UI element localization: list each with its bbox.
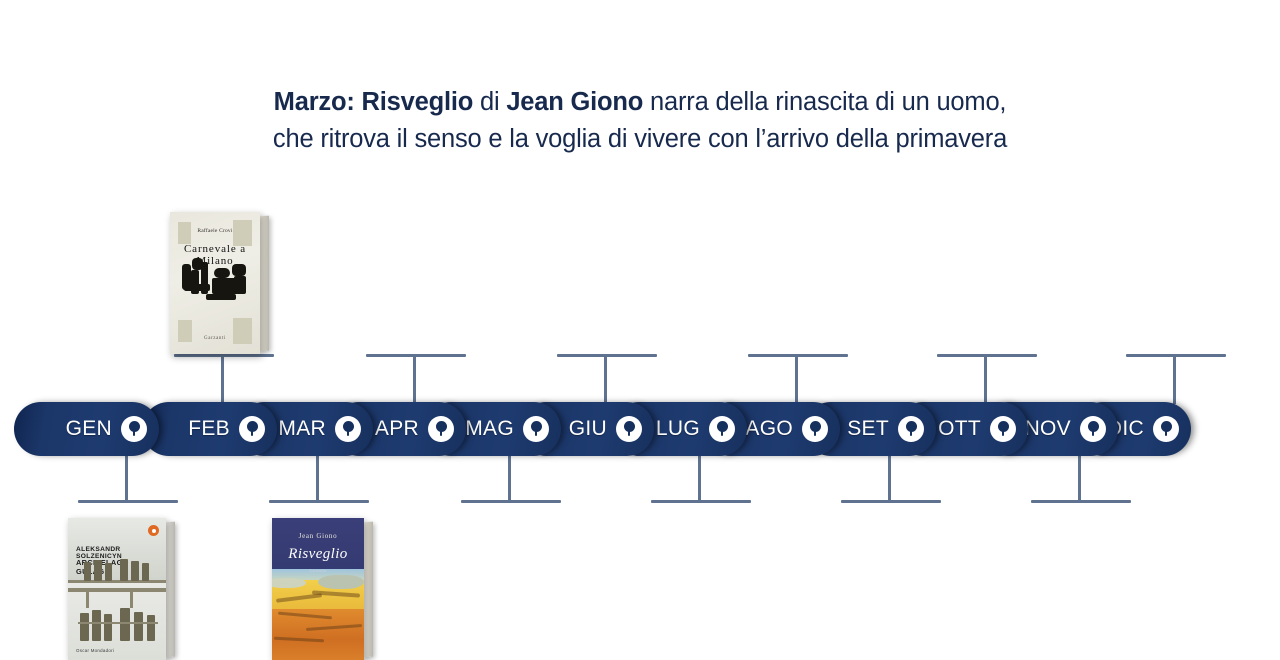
month-label: NOV — [1025, 417, 1071, 441]
location-pin-icon[interactable] — [616, 416, 642, 442]
connector-below-4 — [651, 455, 751, 503]
book-cover-carnevale[interactable]: Raffaele Crovi Carnevale a Milano Garzan… — [170, 212, 260, 354]
location-pin-icon[interactable] — [990, 416, 1016, 442]
cover-figure — [147, 615, 155, 641]
location-pin-icon[interactable] — [802, 416, 828, 442]
caption-line-1-tail: narra della rinascita di un uomo, — [643, 88, 1006, 116]
month-label: OTT — [938, 417, 981, 441]
connector-hbar — [1126, 354, 1226, 357]
connector-stem — [1078, 455, 1081, 501]
connector-hbar — [461, 500, 561, 503]
connector-above-5 — [937, 354, 1037, 404]
location-pin-icon[interactable] — [428, 416, 454, 442]
cover-figure — [94, 560, 102, 581]
month-label: GEN — [66, 417, 112, 441]
connector-above-3 — [557, 354, 657, 404]
cover-artwork — [234, 276, 246, 294]
connector-hbar — [174, 354, 274, 357]
connector-below-3 — [461, 455, 561, 503]
location-pin-icon[interactable] — [523, 416, 549, 442]
month-label: LUG — [656, 417, 700, 441]
connector-above-4 — [748, 354, 848, 404]
cover-hill — [272, 578, 306, 588]
caption-book-author: Jean Giono — [506, 88, 643, 116]
month-label: AGO — [745, 417, 793, 441]
connector-hbar — [366, 354, 466, 357]
book-author-text: Jean Giono — [272, 532, 364, 540]
book-publisher-text: Guanda — [272, 568, 364, 573]
page-title: Marzo: Risveglio di Jean Giono narra del… — [0, 84, 1280, 158]
book-page-edge — [259, 216, 269, 352]
connector-hbar — [1031, 500, 1131, 503]
connector-hbar — [651, 500, 751, 503]
connector-stem — [508, 455, 511, 501]
book-publisher-text: Garzanti — [170, 336, 260, 341]
publisher-logo-icon — [148, 525, 159, 536]
connector-stem — [984, 356, 987, 404]
connector-stem — [125, 455, 128, 501]
timeline-month-gen[interactable]: GEN — [14, 402, 159, 456]
timeline-month-feb[interactable]: FEB — [142, 402, 277, 456]
cover-artwork — [184, 284, 210, 291]
cover-figure — [80, 613, 89, 641]
connector-above-6 — [1126, 354, 1226, 404]
connector-stem — [698, 455, 701, 501]
connector-above-2 — [366, 354, 466, 404]
cover-figure — [142, 563, 149, 581]
cover-figure — [92, 610, 101, 641]
connector-stem — [221, 356, 224, 404]
book-title-text: Risveglio — [272, 546, 364, 563]
cover-figure — [120, 559, 128, 581]
cover-figure — [84, 562, 91, 581]
cover-artwork — [206, 294, 236, 300]
cover-artwork — [214, 268, 230, 278]
connector-stem — [413, 356, 416, 404]
connector-hbar — [269, 500, 369, 503]
connector-above-1 — [174, 354, 274, 404]
connector-hbar — [78, 500, 178, 503]
connector-hbar — [557, 354, 657, 357]
month-label: MAR — [278, 417, 326, 441]
connector-hbar — [748, 354, 848, 357]
connector-below-5 — [841, 455, 941, 503]
location-pin-icon[interactable] — [335, 416, 361, 442]
month-label: SET — [847, 417, 889, 441]
book-publisher-text: Oscar Mondadori — [76, 648, 114, 653]
connector-stem — [1173, 356, 1176, 404]
month-label: MAG — [465, 417, 514, 441]
book-front-face: ALEKSANDR SOLZENICYN ARCIPELAGO GULAG Os… — [68, 518, 166, 660]
connector-stem — [888, 455, 891, 501]
month-label: GIU — [569, 417, 607, 441]
book-cover-risveglio[interactable]: Jean Giono Risveglio Guanda — [272, 518, 364, 660]
connector-below-2 — [269, 455, 369, 503]
cover-figure — [120, 608, 130, 641]
month-timeline: GEN FEB MAR APR MAG GIU LUG AGO SET OTT … — [14, 402, 1191, 456]
cover-bridge — [86, 592, 89, 608]
location-pin-icon[interactable] — [709, 416, 735, 442]
cover-figure — [104, 614, 112, 641]
connector-hbar — [841, 500, 941, 503]
cover-hill — [318, 575, 364, 589]
caption-connector-di: di — [473, 88, 506, 116]
cover-bridge — [68, 580, 166, 583]
caption-line-1: Marzo: Risveglio di Jean Giono narra del… — [0, 84, 1280, 121]
caption-line-2: che ritrova il senso e la voglia di vive… — [0, 121, 1280, 158]
location-pin-icon[interactable] — [1080, 416, 1106, 442]
book-page-edge — [363, 522, 373, 658]
cover-artwork — [232, 264, 246, 276]
book-author-text: Raffaele Crovi — [170, 228, 260, 234]
cover-bridge — [68, 588, 166, 592]
location-pin-icon[interactable] — [898, 416, 924, 442]
cover-bridge — [130, 592, 133, 608]
month-label: FEB — [188, 417, 230, 441]
month-label: APR — [375, 417, 419, 441]
cover-figure — [134, 612, 143, 641]
location-pin-icon[interactable] — [121, 416, 147, 442]
cover-figure — [105, 563, 112, 581]
cover-figure — [131, 561, 139, 581]
connector-stem — [604, 356, 607, 404]
connector-below-6 — [1031, 455, 1131, 503]
connector-below-1 — [78, 455, 178, 503]
location-pin-icon[interactable] — [239, 416, 265, 442]
location-pin-icon[interactable] — [1153, 416, 1179, 442]
connector-stem — [316, 455, 319, 501]
cover-rope — [78, 622, 158, 624]
book-page-edge — [165, 522, 175, 658]
book-front-face: Raffaele Crovi Carnevale a Milano Garzan… — [170, 212, 260, 354]
book-front-face: Jean Giono Risveglio Guanda — [272, 518, 364, 660]
connector-hbar — [937, 354, 1037, 357]
book-cover-gulag[interactable]: ALEKSANDR SOLZENICYN ARCIPELAGO GULAG Os… — [68, 518, 166, 660]
connector-stem — [795, 356, 798, 404]
caption-book-title: Marzo: Risveglio — [274, 88, 473, 116]
